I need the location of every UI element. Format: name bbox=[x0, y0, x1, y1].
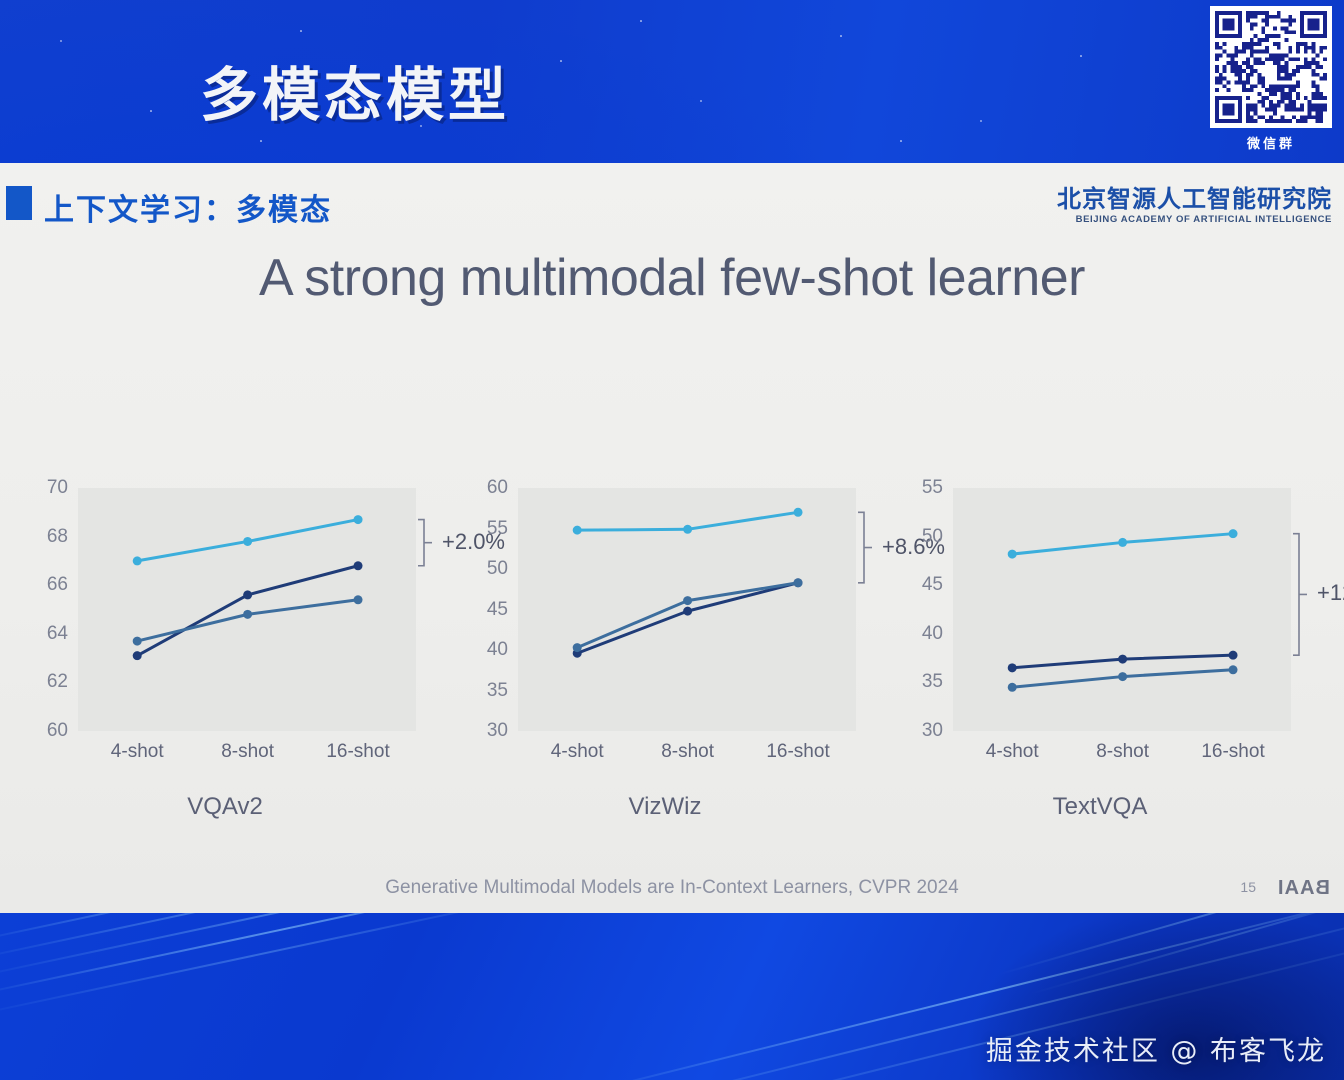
slide-header: 上下文学习：多模态 北京智源人工智能研究院 BEIJING ACADEMY OF… bbox=[0, 163, 1344, 235]
slide-screenshot: 多模态模型 微信群 上下文学习：多模态 北京智源人工智能研究院 BEIJING … bbox=[0, 0, 1344, 1080]
plot-area: 30354045505560 bbox=[518, 488, 856, 731]
gain-bracket-icon bbox=[953, 488, 1291, 731]
y-axis-tick: 55 bbox=[487, 518, 508, 540]
baai-logo: 北京智源人工智能研究院 BEIJING ACADEMY OF ARTIFICIA… bbox=[1057, 187, 1332, 225]
bottom-decoration: 掘金技术社区 @ 布客飞龙 bbox=[0, 913, 1344, 1080]
page-title: A strong multimodal few-shot learner bbox=[0, 248, 1344, 308]
page-number: 15 bbox=[1240, 879, 1256, 895]
y-axis-tick: 70 bbox=[47, 477, 68, 499]
watermark-text: 掘金技术社区 @ 布客飞龙 bbox=[986, 1029, 1326, 1068]
y-axis-tick: 66 bbox=[47, 574, 68, 596]
y-axis-tick: 55 bbox=[922, 477, 943, 499]
baai-logo-cn: 北京智源人工智能研究院 bbox=[1057, 187, 1332, 211]
chart-textvqa: 303540455055+12.7%4-shot8-shot16-shotTex… bbox=[885, 463, 1315, 883]
section-title: 上下文学习：多模态 bbox=[44, 185, 332, 229]
citation-text: Generative Multimodal Models are In-Cont… bbox=[0, 877, 1344, 899]
x-axis-tick: 4-shot bbox=[111, 741, 164, 763]
x-axis-tick: 8-shot bbox=[221, 741, 274, 763]
chart-vqav2: 606264666870+2.0%4-shot8-shot16-shotVQAv… bbox=[10, 463, 440, 883]
x-axis-tick: 8-shot bbox=[1096, 741, 1149, 763]
x-axis-tick: 4-shot bbox=[551, 741, 604, 763]
y-axis-tick: 40 bbox=[922, 623, 943, 645]
x-axis-tick: 16-shot bbox=[1201, 741, 1264, 763]
y-axis-tick: 40 bbox=[487, 639, 508, 661]
x-axis-tick: 16-shot bbox=[766, 741, 829, 763]
y-axis-tick: 45 bbox=[487, 599, 508, 621]
chart-title: VQAv2 bbox=[10, 793, 440, 821]
x-axis-tick: 8-shot bbox=[661, 741, 714, 763]
x-axis-labels: 4-shot8-shot16-shot bbox=[518, 741, 856, 771]
wechat-qr-block[interactable]: 微信群 bbox=[1208, 6, 1334, 152]
x-axis-tick: 16-shot bbox=[326, 741, 389, 763]
plot-area: 606264666870 bbox=[78, 488, 416, 731]
charts-container: 606264666870+2.0%4-shot8-shot16-shotVQAv… bbox=[0, 463, 1344, 883]
y-axis-tick: 35 bbox=[922, 671, 943, 693]
y-axis-tick: 62 bbox=[47, 671, 68, 693]
plot-area: 303540455055 bbox=[953, 488, 1291, 731]
top-banner: 多模态模型 微信群 bbox=[0, 0, 1344, 163]
y-axis-tick: 30 bbox=[922, 720, 943, 742]
y-axis-tick: 64 bbox=[47, 623, 68, 645]
y-axis-tick: 60 bbox=[47, 720, 68, 742]
y-axis-tick: 30 bbox=[487, 720, 508, 742]
banner-title: 多模态模型 bbox=[200, 48, 510, 132]
qr-label: 微信群 bbox=[1208, 133, 1334, 152]
y-axis-tick: 50 bbox=[487, 558, 508, 580]
y-axis-tick: 68 bbox=[47, 526, 68, 548]
section-marker-icon bbox=[6, 186, 32, 220]
chart-title: VizWiz bbox=[450, 793, 880, 821]
y-axis-tick: 50 bbox=[922, 526, 943, 548]
x-axis-tick: 4-shot bbox=[986, 741, 1039, 763]
x-axis-labels: 4-shot8-shot16-shot bbox=[78, 741, 416, 771]
gain-annotation: +12.7% bbox=[1317, 580, 1344, 606]
gain-bracket-icon bbox=[518, 488, 856, 731]
y-axis-tick: 45 bbox=[922, 574, 943, 596]
qr-code-icon[interactable] bbox=[1210, 6, 1332, 128]
gain-bracket-icon bbox=[78, 488, 416, 731]
chart-title: TextVQA bbox=[885, 793, 1315, 821]
x-axis-labels: 4-shot8-shot16-shot bbox=[953, 741, 1291, 771]
y-axis-tick: 60 bbox=[487, 477, 508, 499]
slide-body: 上下文学习：多模态 北京智源人工智能研究院 BEIJING ACADEMY OF… bbox=[0, 163, 1344, 913]
footer-baai-logo: BAAI bbox=[1277, 877, 1330, 900]
chart-vizwiz: 30354045505560+8.6%4-shot8-shot16-shotVi… bbox=[450, 463, 880, 883]
baai-logo-en: BEIJING ACADEMY OF ARTIFICIAL INTELLIGEN… bbox=[1057, 214, 1332, 225]
y-axis-tick: 35 bbox=[487, 680, 508, 702]
